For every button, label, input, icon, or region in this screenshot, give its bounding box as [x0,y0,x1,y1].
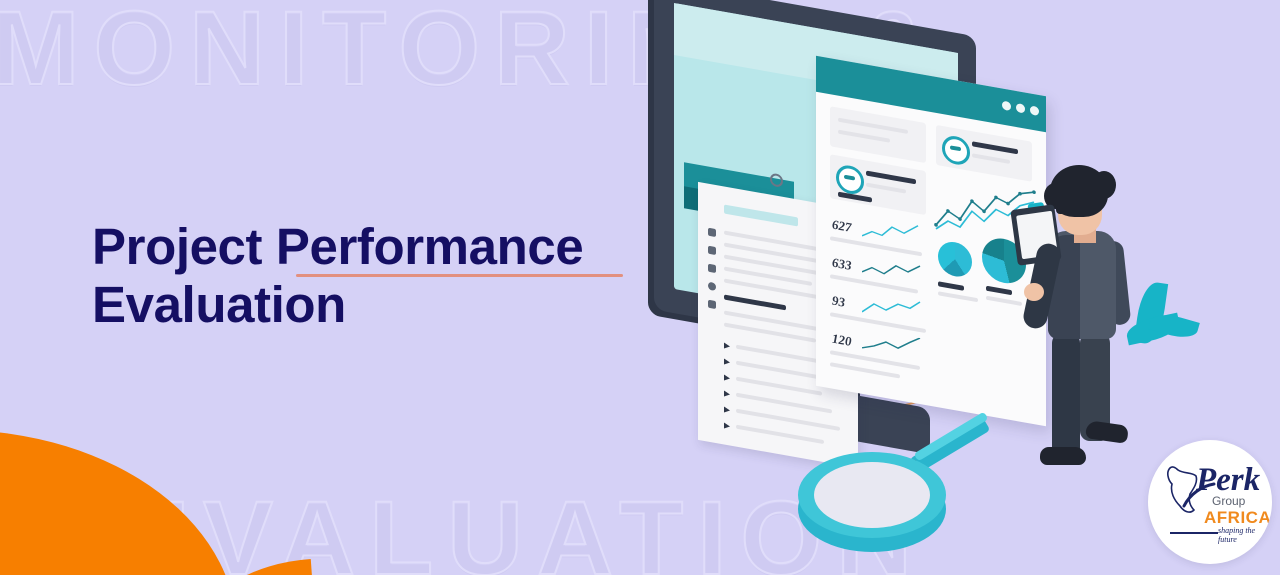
metric-value: 93 [832,293,845,311]
metric-value: 633 [832,255,852,274]
sidebar-search-chip [724,204,798,226]
logo-divider [1170,532,1218,534]
window-dot-1 [1002,101,1011,112]
title-line1-emphasis: Performance [276,218,583,275]
logo-group-text: Group [1212,494,1245,508]
settings-icon [708,300,716,309]
window-dot-2 [1016,103,1025,114]
grid-icon [708,228,716,237]
banner-root: MONITORING & & EVALUATION Project Perfor… [0,0,1280,575]
circle-icon [708,282,716,291]
title-underline [296,274,623,277]
title-line1-normal: Project [92,218,276,275]
pin-icon [708,264,716,273]
hair-curl-right [1092,171,1116,199]
logo-region-text: AFRICA [1204,508,1271,528]
metric-value: 120 [832,331,852,350]
shoe-left [1040,447,1086,465]
magnifying-glass [790,440,970,560]
metric-value: 627 [832,217,852,236]
logo-tagline: shaping the future [1218,526,1272,544]
pie-chart-small [938,239,972,279]
arrow-icon [708,246,716,255]
window-dot-3 [1030,105,1039,116]
hand [1024,283,1044,301]
title-line2: Evaluation [92,276,692,334]
sidebar-active-item [724,294,786,310]
magnifier-lens [814,462,930,528]
leg-left [1052,333,1080,455]
analyst-figure [1010,165,1150,495]
logo-brand-text: Perk [1196,464,1260,497]
brand-logo: Perk Group AFRICA shaping the future [1148,440,1272,564]
